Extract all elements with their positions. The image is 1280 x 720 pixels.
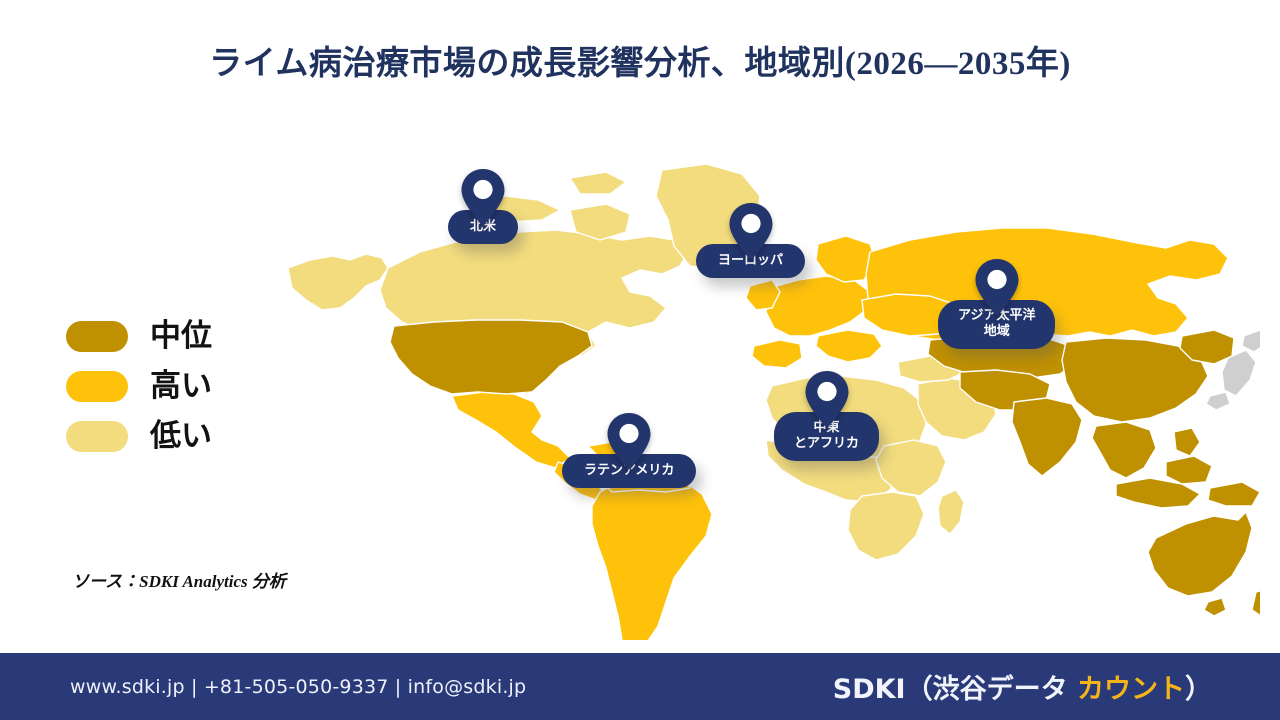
region-iberia: [752, 340, 802, 368]
location-pin-icon: [728, 202, 774, 260]
brand-accent: カウント: [1077, 674, 1185, 705]
region-united-states: [390, 320, 592, 394]
legend-label-medium: 中位: [150, 321, 212, 352]
legend-swatch-low: [66, 421, 128, 452]
map-pin-north-america[interactable]: 北米: [448, 168, 518, 244]
region-southeast-asia: [1092, 422, 1156, 478]
region-japan-south: [1206, 392, 1230, 410]
pin-line: 地域: [958, 324, 1035, 340]
region-madagascar: [938, 490, 964, 534]
legend-label-low: 低い: [150, 421, 212, 452]
region-mexico: [452, 392, 570, 468]
region-alaska: [288, 254, 388, 310]
page-title: ライム病治療市場の成長影響分析、地域別(2026—2035年): [0, 36, 1280, 84]
legend-item-low: 低い: [66, 412, 212, 460]
region-italy-balkans: [816, 330, 882, 362]
region-southern-africa: [848, 492, 924, 560]
legend-label-high: 高い: [150, 371, 212, 402]
region-borneo: [1166, 456, 1212, 484]
legend-swatch-high: [66, 371, 128, 402]
legend-item-high: 高い: [66, 362, 212, 410]
region-new-guinea: [1208, 482, 1260, 506]
world-map: 北米 ヨーロッパ アジア太平洋: [270, 140, 1260, 640]
region-western-europe: [766, 276, 870, 336]
map-pin-europe[interactable]: ヨーロッパ: [696, 202, 805, 278]
region-india: [1012, 398, 1082, 476]
footer-contact-info[interactable]: www.sdki.jp | +81-505-050-9337 | info@sd…: [70, 676, 526, 698]
location-pin-icon: [804, 370, 850, 428]
region-australia: [1148, 512, 1252, 596]
map-pin-middle-east-africa[interactable]: 中東 とアフリカ: [774, 370, 879, 461]
legend-swatch-medium: [66, 321, 128, 352]
legend: 中位 高い 低い: [66, 312, 212, 462]
map-pin-latin-america[interactable]: ラテンアメリカ: [562, 412, 696, 488]
brand-suffix: ）: [1185, 674, 1212, 705]
region-tasmania: [1204, 598, 1226, 616]
footer-bar: www.sdki.jp | +81-505-050-9337 | info@sd…: [0, 653, 1280, 720]
map-pin-asia-pacific[interactable]: アジア太平洋 地域: [938, 258, 1055, 349]
location-pin-icon: [974, 258, 1020, 316]
slide-root: ライム病治療市場の成長影響分析、地域別(2026—2035年) 中位 高い 低い…: [0, 0, 1280, 720]
region-ellesmere: [570, 172, 626, 194]
region-south-america: [592, 474, 712, 640]
legend-item-medium: 中位: [66, 312, 212, 360]
location-pin-icon: [606, 412, 652, 470]
brand-prefix: SDKI（渋谷データ: [833, 674, 1077, 705]
footer-brand-logo: SDKI（渋谷データ カウント）: [833, 667, 1212, 706]
region-japan-north: [1242, 330, 1260, 352]
source-note: ソース：SDKI Analytics 分析: [72, 567, 286, 592]
pin-line: とアフリカ: [794, 436, 859, 452]
region-new-zealand-south: [1252, 588, 1260, 618]
region-philippines: [1174, 428, 1200, 456]
location-pin-icon: [460, 168, 506, 226]
